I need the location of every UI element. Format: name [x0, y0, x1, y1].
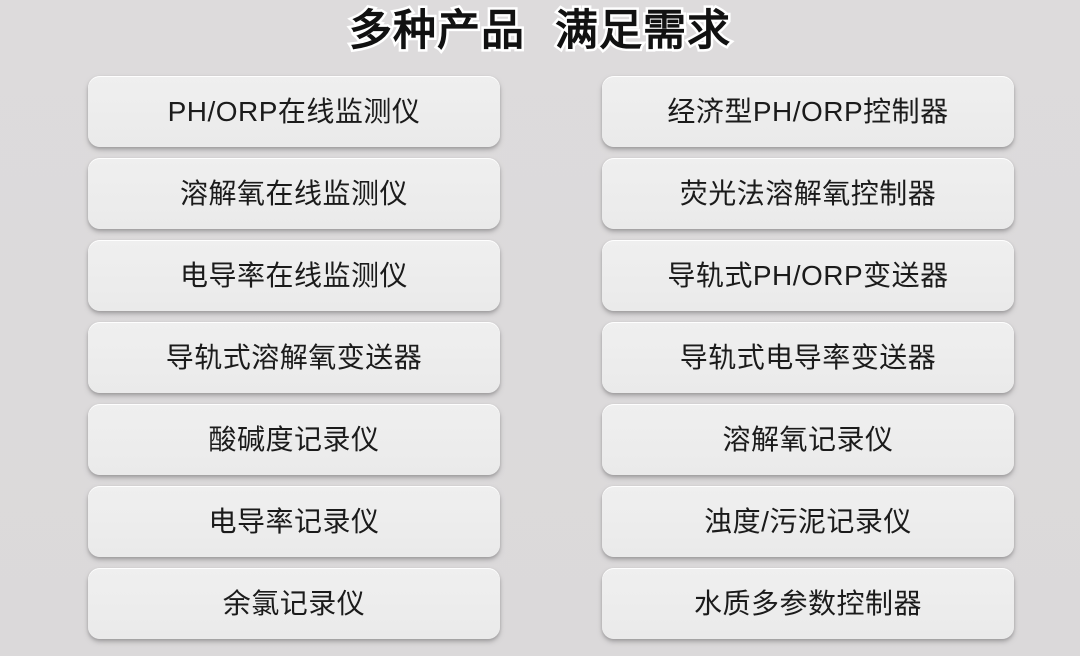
product-button-dissolved-oxygen-online-monitor[interactable]: 溶解氧在线监测仪 — [88, 158, 500, 229]
product-button-label: 水质多参数控制器 — [694, 590, 922, 618]
product-button-label: 余氯记录仪 — [223, 590, 366, 618]
product-button-multiparameter-water-quality-controller[interactable]: 水质多参数控制器 — [602, 568, 1014, 639]
product-button-label: 导轨式电导率变送器 — [680, 344, 937, 372]
product-button-label: 电导率在线监测仪 — [180, 262, 408, 290]
product-button-label: 浊度/污泥记录仪 — [704, 508, 912, 536]
product-button-ph-orp-online-monitor[interactable]: PH/ORP在线监测仪 — [88, 76, 500, 147]
product-button-economic-ph-orp-controller[interactable]: 经济型PH/ORP控制器 — [602, 76, 1014, 147]
product-button-conductivity-recorder[interactable]: 电导率记录仪 — [88, 486, 500, 557]
product-button-label: 导轨式PH/ORP变送器 — [667, 262, 948, 290]
product-catalog-page: 多种产品 满足需求 PH/ORP在线监测仪 经济型PH/ORP控制器 溶解氧在线… — [0, 0, 1080, 656]
product-button-dissolved-oxygen-recorder[interactable]: 溶解氧记录仪 — [602, 404, 1014, 475]
page-title: 多种产品 满足需求 — [0, 0, 1080, 62]
page-title-part-2: 满足需求 — [555, 10, 731, 53]
product-button-conductivity-online-monitor[interactable]: 电导率在线监测仪 — [88, 240, 500, 311]
product-button-residual-chlorine-recorder[interactable]: 余氯记录仪 — [88, 568, 500, 639]
product-button-fluorescence-dissolved-oxygen-controller[interactable]: 荧光法溶解氧控制器 — [602, 158, 1014, 229]
product-button-din-rail-ph-orp-transmitter[interactable]: 导轨式PH/ORP变送器 — [602, 240, 1014, 311]
product-button-din-rail-dissolved-oxygen-transmitter[interactable]: 导轨式溶解氧变送器 — [88, 322, 500, 393]
product-button-label: 经济型PH/ORP控制器 — [667, 98, 948, 126]
product-button-label: 荧光法溶解氧控制器 — [680, 180, 937, 208]
product-button-turbidity-sludge-recorder[interactable]: 浊度/污泥记录仪 — [602, 486, 1014, 557]
product-button-label: 导轨式溶解氧变送器 — [166, 344, 423, 372]
product-button-label: PH/ORP在线监测仪 — [168, 98, 421, 126]
product-button-ph-recorder[interactable]: 酸碱度记录仪 — [88, 404, 500, 475]
page-title-part-1: 多种产品 — [349, 10, 525, 53]
product-button-din-rail-conductivity-transmitter[interactable]: 导轨式电导率变送器 — [602, 322, 1014, 393]
product-button-label: 酸碱度记录仪 — [208, 426, 379, 454]
product-button-grid: PH/ORP在线监测仪 经济型PH/ORP控制器 溶解氧在线监测仪 荧光法溶解氧… — [88, 76, 1014, 648]
product-button-label: 溶解氧在线监测仪 — [180, 180, 408, 208]
product-button-label: 电导率记录仪 — [208, 508, 379, 536]
product-button-label: 溶解氧记录仪 — [722, 426, 893, 454]
